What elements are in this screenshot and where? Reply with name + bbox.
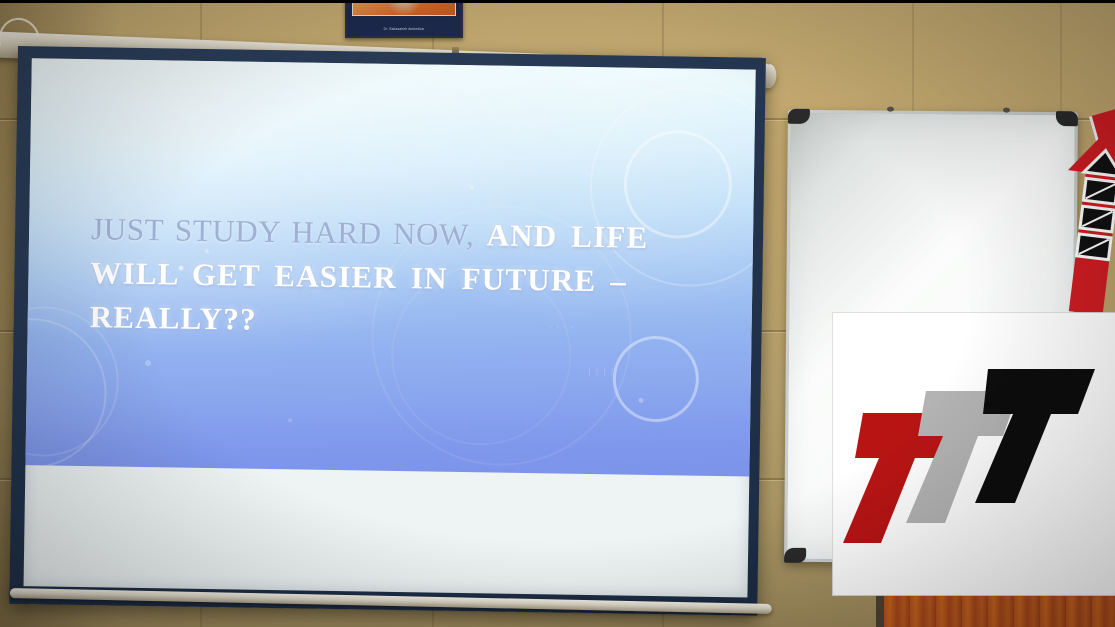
slide-headline: JUST STUDY HARD NOW, AND LIFE WILL GET E… [89, 207, 701, 349]
projection-screen-surface: ···· |||| JUST STUDY HARD NOW, AND LIFE … [24, 58, 756, 597]
lecture-hall-scene: Dr. Babasaheb Ambedkar [0, 0, 1115, 627]
whiteboard-corner-cap [788, 109, 810, 124]
headline-soft-part: JUST STUDY HARD NOW, [91, 211, 475, 252]
whiteboard-corner-cap [784, 548, 806, 563]
whiteboard-mount-screw [1003, 108, 1010, 113]
slide-speck [288, 418, 292, 422]
projected-slide: ···· |||| JUST STUDY HARD NOW, AND LIFE … [25, 58, 755, 476]
ttt-logo-card [833, 313, 1115, 595]
slide-speck [470, 185, 474, 189]
whiteboard-mount-screw [887, 107, 894, 112]
slide-speck [145, 360, 151, 366]
framed-portrait: Dr. Babasaheb Ambedkar [345, 0, 463, 38]
portrait-caption: Dr. Babasaheb Ambedkar [347, 27, 461, 31]
wooden-door-panel [884, 592, 1115, 627]
slide-faint-glyphs: |||| [587, 367, 617, 377]
projection-screen: ···· |||| JUST STUDY HARD NOW, AND LIFE … [9, 46, 766, 616]
frame-top-edge [0, 0, 1115, 3]
slide-speck [638, 398, 643, 403]
